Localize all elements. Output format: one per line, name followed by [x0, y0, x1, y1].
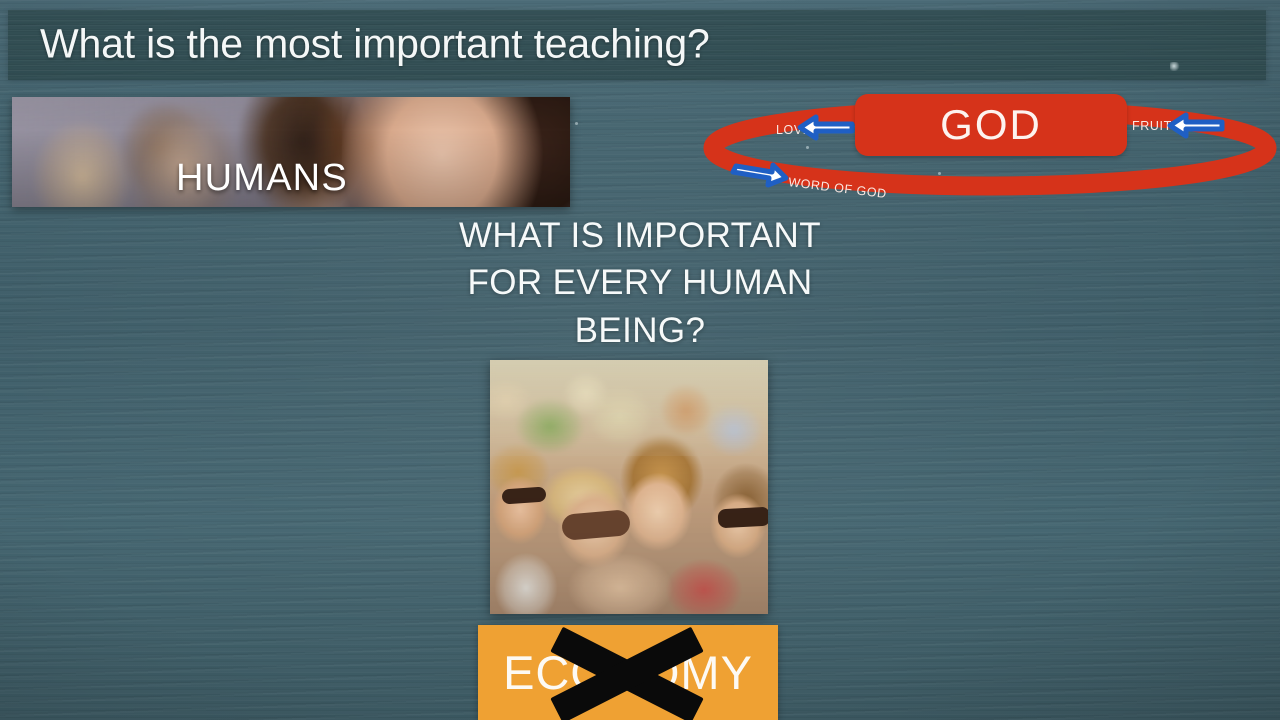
- crowd-photo: [490, 360, 768, 614]
- question-line-3: BEING?: [440, 307, 840, 354]
- arrow-right-icon: [733, 165, 786, 185]
- page-title: What is the most important teaching?: [40, 21, 710, 68]
- economy-banner: ECONOMY: [478, 625, 778, 720]
- god-label: GOD: [940, 104, 1042, 146]
- economy-label: ECONOMY: [503, 649, 753, 696]
- crowd-photo-tint: [490, 360, 768, 614]
- background-speck: [575, 122, 578, 125]
- question-line-2: FOR EVERY HUMAN: [440, 259, 840, 306]
- presentation-slide: What is the most important teaching? HUM…: [0, 0, 1280, 720]
- god-cycle-diagram: LOVE FRUIT WORD OF GOD GOD: [700, 86, 1280, 204]
- humans-image-banner: HUMANS: [12, 97, 570, 207]
- title-banner-speck: [1170, 62, 1180, 71]
- title-banner: What is the most important teaching?: [8, 10, 1266, 80]
- center-question-text: WHAT IS IMPORTANT FOR EVERY HUMAN BEING?: [440, 212, 840, 354]
- question-line-1: WHAT IS IMPORTANT: [440, 212, 840, 259]
- god-center-box: GOD: [855, 94, 1127, 156]
- humans-label: HUMANS: [176, 157, 348, 200]
- ring-label-fruit: FRUIT: [1132, 119, 1172, 133]
